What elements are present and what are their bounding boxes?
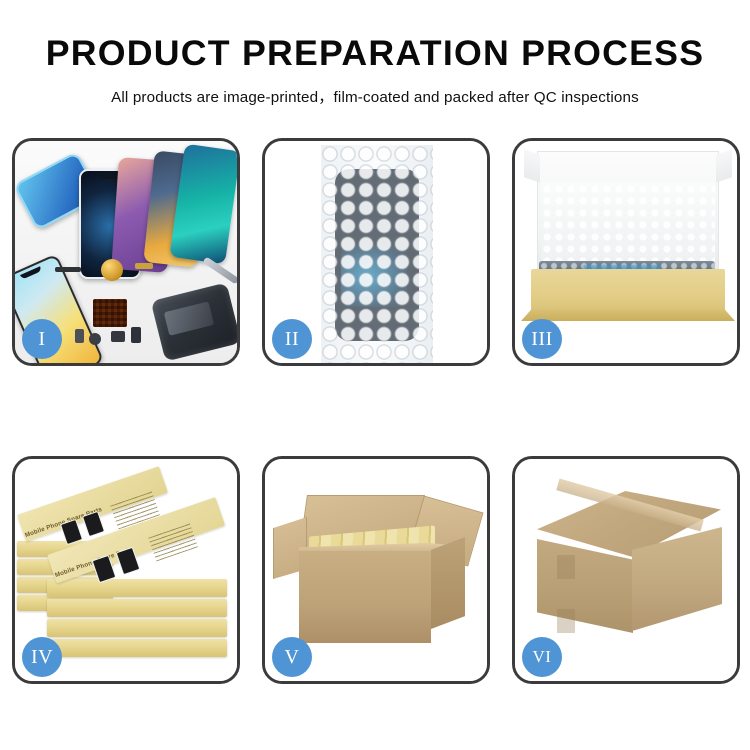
step-panel-3[interactable]: III (512, 138, 740, 366)
product-preparation-infographic: PRODUCT PREPARATION PROCESS All products… (0, 0, 750, 750)
phone-back-housing (151, 282, 237, 361)
step-panel-5[interactable]: V (262, 456, 490, 684)
step-badge-4: IV (22, 637, 62, 677)
gold-flex-cable (135, 263, 153, 269)
step-badge-6: VI (522, 637, 562, 677)
page-subtitle: All products are image-printed，film-coat… (0, 85, 750, 107)
carton-front (299, 551, 431, 643)
notch (20, 266, 42, 280)
camera-module (75, 329, 84, 343)
stacked-box (47, 579, 227, 597)
earpiece-part (111, 331, 125, 342)
bubble-outlines (321, 145, 433, 363)
speaker-module (101, 259, 123, 281)
mailer-box-tray (531, 269, 725, 319)
step-panel-2[interactable]: II (262, 138, 490, 366)
step-panel-4[interactable]: Mobile Phone Spare Parts Mobile Phone Sp… (12, 456, 240, 684)
flex-cable (55, 267, 81, 272)
step-badge-3: III (522, 319, 562, 359)
page-title: PRODUCT PREPARATION PROCESS (0, 36, 750, 73)
carton-side (431, 537, 465, 629)
stacked-box (47, 599, 227, 617)
carton-front-face (537, 539, 633, 633)
bubble-wrap-sheet (321, 145, 433, 363)
steps-grid: I II III (12, 138, 740, 684)
foam-padding (541, 183, 715, 271)
step-badge-5: V (272, 637, 312, 677)
connector-board (93, 299, 127, 327)
step-badge-2: II (272, 319, 312, 359)
button-flex (131, 327, 141, 343)
header: PRODUCT PREPARATION PROCESS All products… (0, 0, 750, 107)
vibration-motor (89, 333, 101, 345)
stacked-box (47, 619, 227, 637)
step-panel-6[interactable]: VI (512, 456, 740, 684)
step-panel-1[interactable]: I (12, 138, 240, 366)
step-badge-1: I (22, 319, 62, 359)
stacked-box (47, 639, 227, 657)
carton-seam-top (557, 555, 575, 579)
carton-seam-bottom (557, 609, 575, 633)
